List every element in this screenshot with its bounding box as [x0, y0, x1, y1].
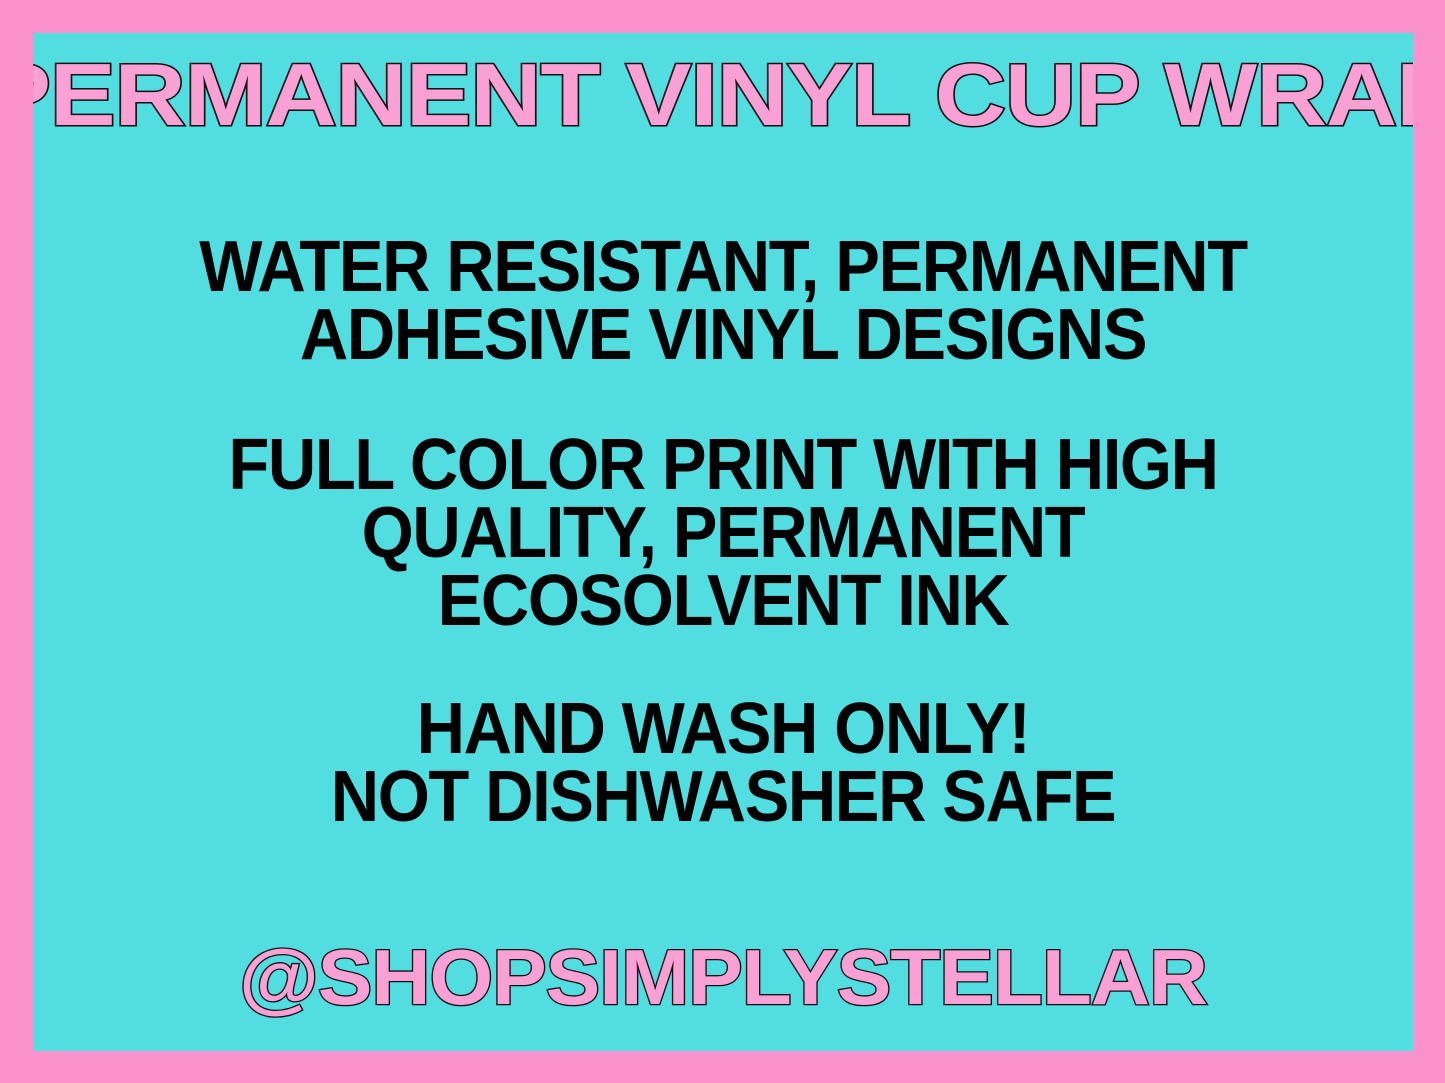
- poster-inner-panel: PERMANENT VINYL CUP WRAP WATER RESISTANT…: [33, 33, 1413, 1051]
- poster-title: PERMANENT VINYL CUP WRAP: [33, 51, 1413, 139]
- feature-line: FULL COLOR PRINT WITH HIGH: [81, 431, 1364, 499]
- feature-line: WATER RESISTANT, PERMANENT: [81, 233, 1364, 301]
- feature-line: NOT DISHWASHER SAFE: [81, 763, 1364, 831]
- feature-line: QUALITY, PERMANENT: [81, 499, 1364, 567]
- feature-line: ECOSOLVENT INK: [81, 567, 1364, 635]
- product-info-graphic: PERMANENT VINYL CUP WRAP WATER RESISTANT…: [0, 0, 1445, 1083]
- feature-line: HAND WASH ONLY!: [81, 695, 1364, 763]
- shop-handle: @SHOPSIMPLYSTELLAR: [33, 938, 1413, 1016]
- feature-line: ADHESIVE VINYL DESIGNS: [81, 301, 1364, 369]
- feature-block-water-resistant: WATER RESISTANT, PERMANENT ADHESIVE VINY…: [81, 233, 1364, 369]
- feature-block-care-instructions: HAND WASH ONLY! NOT DISHWASHER SAFE: [81, 695, 1364, 831]
- feature-block-full-color-print: FULL COLOR PRINT WITH HIGH QUALITY, PERM…: [81, 431, 1364, 635]
